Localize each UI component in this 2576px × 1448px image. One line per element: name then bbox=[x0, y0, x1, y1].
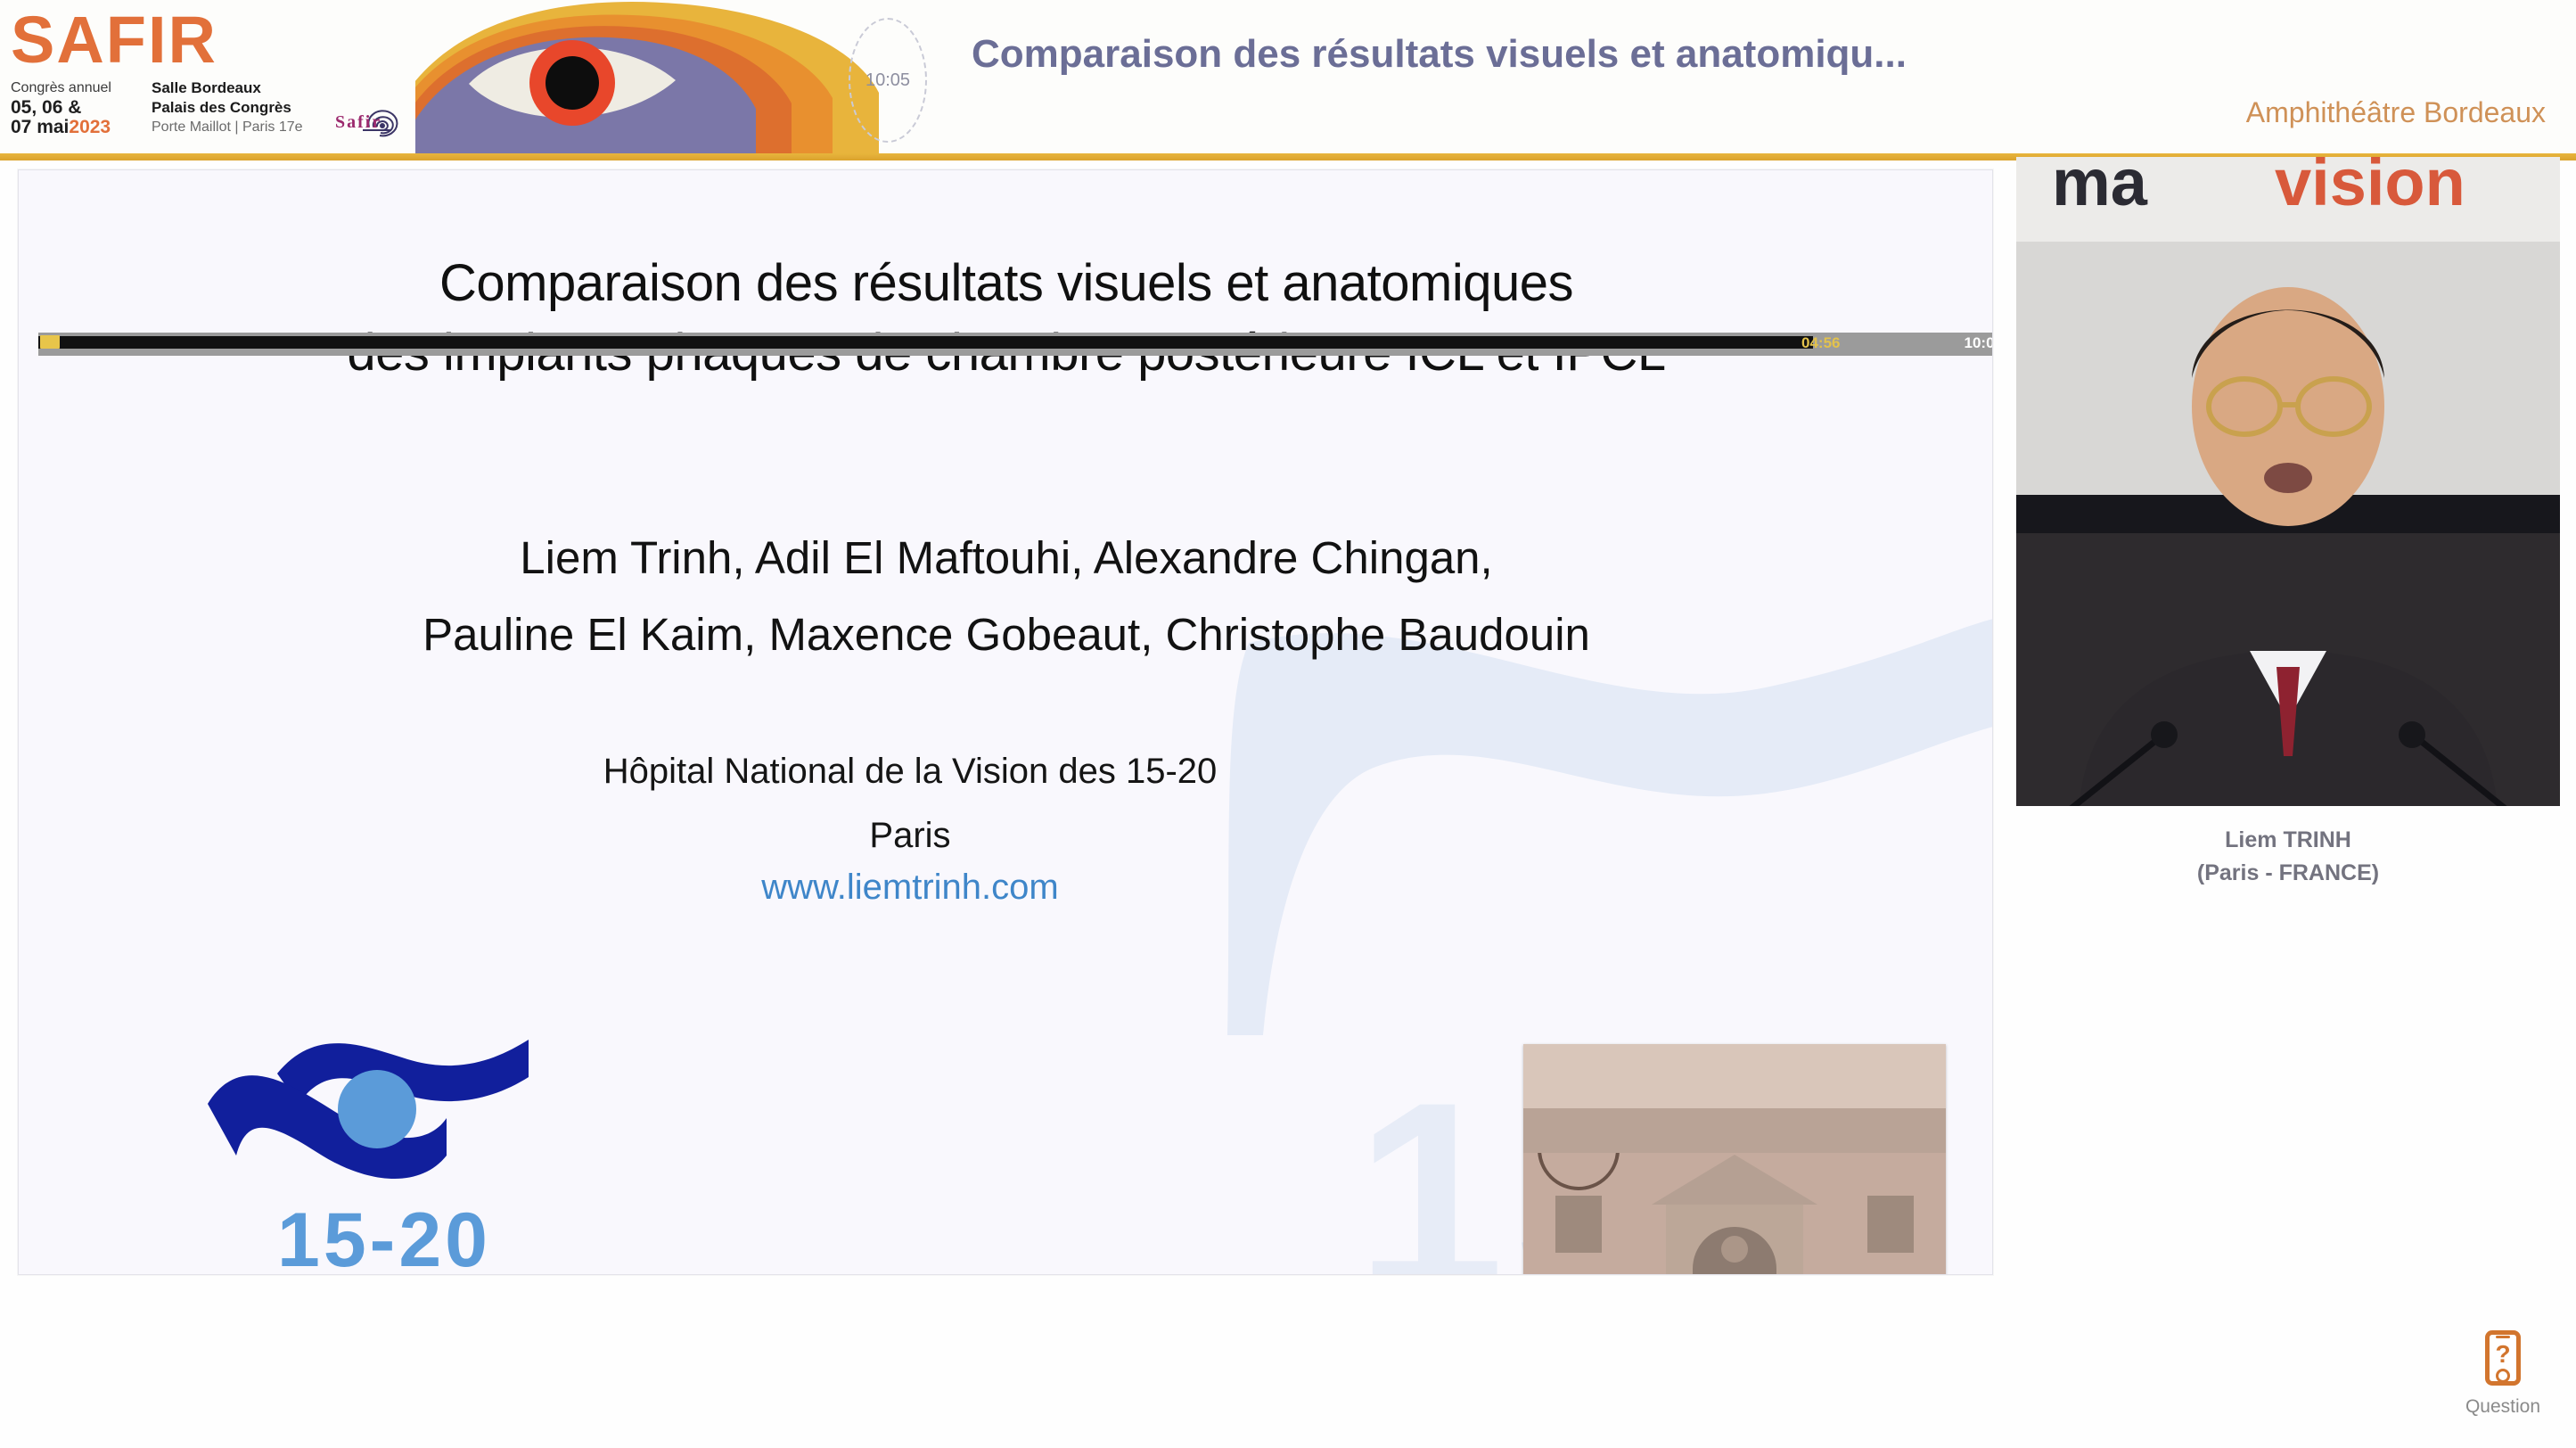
slide-viewer[interactable]: 15-20 Comparaison des résultats visuels … bbox=[18, 169, 1993, 1275]
page-header: SAFIR Congrès annuel 05, 06 & 07 mai2023… bbox=[0, 0, 2576, 160]
session-room-label: Amphithéâtre Bordeaux bbox=[2246, 96, 2546, 129]
broadcast-player-page: SAFIR Congrès annuel 05, 06 & 07 mai2023… bbox=[0, 0, 2576, 1448]
venue-room: Salle Bordeaux bbox=[152, 78, 303, 98]
congress-dates-line2: 07 mai2023 bbox=[11, 118, 135, 137]
historic-postcard-image: 128 — PARIS — L'HOSPICE DES QUINZE-VINGT… bbox=[1523, 1044, 1946, 1275]
congress-venue: Salle Bordeaux Palais des Congrès Porte … bbox=[152, 78, 303, 137]
safir-mini-label: Safir bbox=[335, 112, 381, 133]
slide-authors: Liem Trinh, Adil El Maftouhi, Alexandre … bbox=[19, 520, 1993, 673]
speaker-figure bbox=[2016, 533, 2560, 806]
slide-affiliation-line-2: Paris bbox=[464, 803, 1356, 868]
safir-eye-logo bbox=[415, 0, 879, 157]
speaker-video-feed[interactable]: ma vision bbox=[2016, 157, 2560, 806]
ask-question-label: Question bbox=[2460, 1396, 2546, 1418]
backdrop-word-2: vision bbox=[2275, 157, 2465, 220]
congress-dates: Congrès annuel 05, 06 & 07 mai2023 bbox=[11, 78, 135, 137]
session-clock-bubble: 10:05 bbox=[849, 18, 927, 143]
speaker-name-text: Liem TRINH bbox=[2016, 824, 2560, 857]
hospital-logo-number: 15-20 bbox=[188, 1197, 580, 1275]
safir-wordmark: SAFIR bbox=[11, 4, 323, 77]
backdrop-word-1: ma bbox=[2052, 157, 2147, 220]
slide-title: Comparaison des résultats visuels et ana… bbox=[19, 249, 1993, 388]
phone-home-button bbox=[2498, 1371, 2507, 1380]
congress-year: 2023 bbox=[69, 117, 111, 137]
speaker-head-icon bbox=[2150, 264, 2426, 558]
slide-affiliation: Hôpital National de la Vision des 15-20 … bbox=[464, 739, 1356, 868]
session-clock: 10:05 bbox=[866, 70, 910, 91]
progress-elapsed-fill bbox=[38, 336, 1813, 349]
slide-title-line-1: Comparaison des résultats visuels et ana… bbox=[19, 249, 1993, 318]
video-progress-bar[interactable]: 04:56 10:05 bbox=[38, 333, 1993, 356]
safir-brand-block: SAFIR Congrès annuel 05, 06 & 07 mai2023… bbox=[11, 4, 323, 153]
progress-scrubber-handle[interactable] bbox=[40, 335, 60, 349]
hospital-eye-icon bbox=[188, 1022, 580, 1200]
venue-building: Palais des Congrès bbox=[152, 98, 303, 118]
question-phone-icon: ? bbox=[2485, 1330, 2521, 1386]
slide-authors-line-1: Liem Trinh, Adil El Maftouhi, Alexandre … bbox=[19, 520, 1993, 596]
speaker-panel: ma vision bbox=[2016, 157, 2560, 531]
congress-label: Congrès annuel bbox=[11, 78, 135, 98]
postcard-facade bbox=[1523, 1153, 1946, 1275]
progress-elapsed-time: 04:56 bbox=[1801, 334, 1840, 352]
hospital-logo: 15-20 HÔPITAL NATIONAL DE LA VISION PARI… bbox=[188, 1022, 580, 1275]
eye-logo-icon bbox=[415, 0, 879, 157]
speaker-silhouette-icon bbox=[2016, 533, 2560, 806]
ask-question-button[interactable]: ? Question bbox=[2460, 1330, 2546, 1434]
congress-dates-line1: 05, 06 & bbox=[11, 98, 135, 118]
speaker-nameplate: Liem TRINH (Paris - FRANCE) bbox=[2016, 824, 2560, 890]
progress-duration-time: 10:05 bbox=[1965, 334, 1993, 352]
speaker-location-text: (Paris - FRANCE) bbox=[2016, 857, 2560, 890]
stage-backdrop-banner: ma vision bbox=[2016, 157, 2560, 242]
postcard-roof bbox=[1523, 1108, 1946, 1160]
session-title: Comparaison des résultats visuels et ana… bbox=[972, 32, 2362, 77]
venue-address: Porte Maillot | Paris 17e bbox=[152, 118, 303, 137]
slide-authors-line-2: Pauline El Kaim, Maxence Gobeaut, Christ… bbox=[19, 596, 1993, 673]
safir-mini-logo: Safir bbox=[333, 100, 426, 150]
slide-website-link[interactable]: www.liemtrinh.com bbox=[464, 868, 1356, 908]
slide-affiliation-line-1: Hôpital National de la Vision des 15-20 bbox=[464, 739, 1356, 803]
postcard-building-icon bbox=[1523, 1153, 1946, 1275]
question-mark-glyph: ? bbox=[2490, 1337, 2516, 1372]
